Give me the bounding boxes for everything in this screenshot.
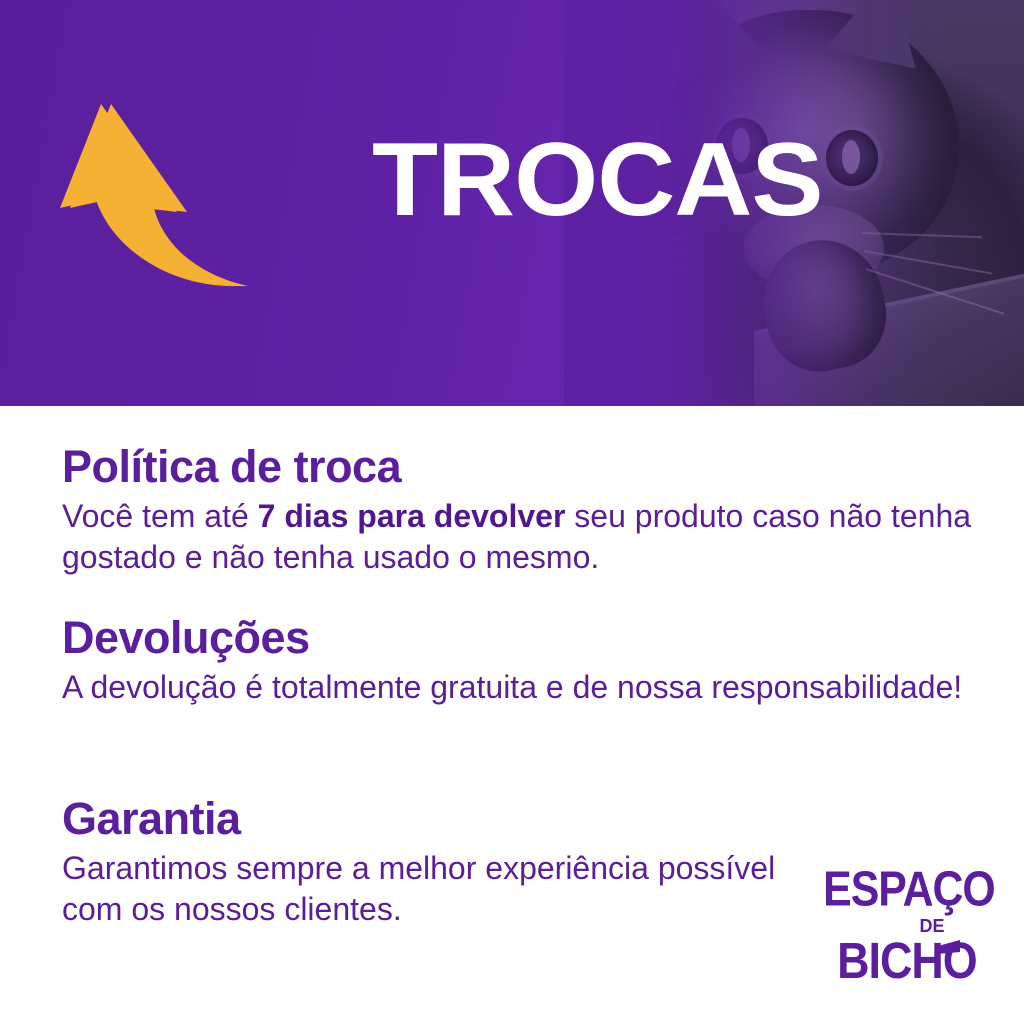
section-body: Você tem até 7 dias para devolver seu pr… bbox=[62, 496, 972, 578]
section-devolucoes: Devoluções A devolução é totalmente grat… bbox=[62, 615, 962, 708]
brand-logo: ESPAÇO DE BICHO bbox=[810, 862, 1006, 986]
section-body: A devolução é totalmente gratuita e de n… bbox=[62, 667, 962, 708]
section-body: Garantimos sempre a melhor experiência p… bbox=[62, 848, 792, 930]
policy-content: Política de troca Você tem até 7 dias pa… bbox=[0, 406, 1024, 1024]
section-title: Política de troca bbox=[62, 444, 972, 490]
body-lead: Você tem até bbox=[62, 498, 258, 534]
section-title: Garantia bbox=[62, 796, 792, 842]
body-highlight: 7 dias para devolver bbox=[258, 498, 566, 534]
section-title: Devoluções bbox=[62, 615, 962, 661]
section-politica-de-troca: Política de troca Você tem até 7 dias pa… bbox=[62, 444, 972, 578]
section-garantia: Garantia Garantimos sempre a melhor expe… bbox=[62, 796, 792, 930]
exchange-arrows-icon bbox=[52, 96, 352, 311]
hero-banner: TROCAS bbox=[0, 0, 1024, 406]
svg-text:ESPAÇO: ESPAÇO bbox=[823, 862, 995, 916]
hero-title: TROCAS bbox=[372, 128, 822, 232]
promo-card: TROCAS Política de troca Você tem até 7 … bbox=[0, 0, 1024, 1024]
